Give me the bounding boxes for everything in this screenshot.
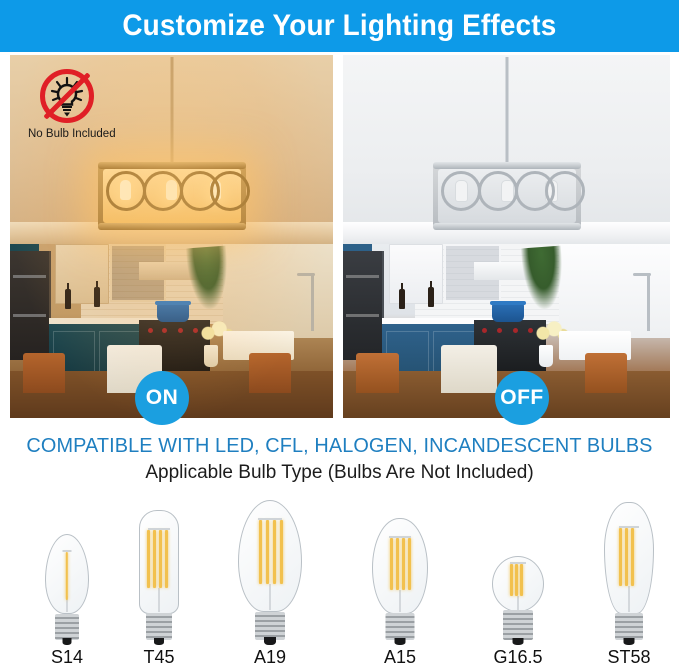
chandelier-rod bbox=[505, 57, 508, 162]
no-bulb-label: No Bulb Included bbox=[28, 128, 138, 140]
faucet bbox=[647, 273, 650, 331]
chandelier-drum bbox=[98, 162, 246, 230]
no-bulb-badge: No Bulb Included bbox=[28, 69, 138, 140]
bulb-g16-5: G16.5 bbox=[472, 508, 564, 668]
product-infographic: Customize Your Lighting Effects bbox=[0, 0, 679, 668]
faucet bbox=[311, 273, 314, 331]
bulb-st58: ST58 bbox=[586, 508, 672, 668]
chandelier-drum bbox=[433, 162, 581, 230]
chandelier-rod bbox=[170, 57, 173, 162]
bulb-s14-art bbox=[44, 532, 90, 640]
status-badge-on: ON bbox=[135, 371, 189, 425]
vase bbox=[204, 345, 218, 367]
bulb-a15-art bbox=[371, 518, 429, 640]
wall-ovens bbox=[10, 251, 51, 360]
dutch-oven-pot bbox=[157, 304, 189, 322]
chair bbox=[23, 353, 65, 393]
bulb-label: S14 bbox=[51, 647, 83, 668]
no-bulb-prohibition-icon bbox=[40, 69, 94, 123]
bulb-type-row: S14 T45 bbox=[0, 496, 679, 668]
bulb-label: G16.5 bbox=[493, 647, 542, 668]
dutch-oven-pot bbox=[492, 304, 525, 322]
bulb-g16-5-art bbox=[491, 534, 545, 640]
comparison-photos: No Bulb Included bbox=[10, 55, 670, 418]
wall-ovens bbox=[343, 251, 384, 360]
chandelier bbox=[432, 57, 582, 272]
page-title: Customize Your Lighting Effects bbox=[122, 9, 556, 43]
vase bbox=[539, 345, 553, 367]
bulb-a19-art bbox=[237, 500, 303, 640]
chair bbox=[441, 345, 497, 392]
chair bbox=[249, 353, 291, 393]
bulb-st58-art bbox=[602, 500, 656, 640]
bulb-label: T45 bbox=[143, 647, 174, 668]
bulb-label: A15 bbox=[384, 647, 416, 668]
bulb-a15: A15 bbox=[355, 508, 445, 668]
bulb-a19: A19 bbox=[222, 508, 318, 668]
compatibility-headline: COMPATIBLE WITH LED, CFL, HALOGEN, INCAN… bbox=[10, 434, 669, 458]
bulb-t45: T45 bbox=[118, 508, 200, 668]
chair bbox=[585, 353, 628, 393]
status-badge-off: OFF bbox=[495, 371, 549, 425]
bulb-t45-art bbox=[135, 510, 183, 640]
photo-lights-off bbox=[343, 55, 670, 418]
header-banner: Customize Your Lighting Effects bbox=[0, 0, 679, 52]
photo-lights-on: No Bulb Included bbox=[10, 55, 333, 418]
chair bbox=[356, 353, 399, 393]
bottle bbox=[65, 289, 71, 309]
applicable-bulb-subline: Applicable Bulb Type (Bulbs Are Not Incl… bbox=[0, 462, 679, 484]
bulb-label: ST58 bbox=[607, 647, 650, 668]
bulb-s14: S14 bbox=[26, 508, 108, 668]
bottle bbox=[428, 287, 434, 307]
bottle bbox=[94, 287, 100, 307]
bulb-label: A19 bbox=[254, 647, 286, 668]
bottle bbox=[399, 289, 405, 309]
